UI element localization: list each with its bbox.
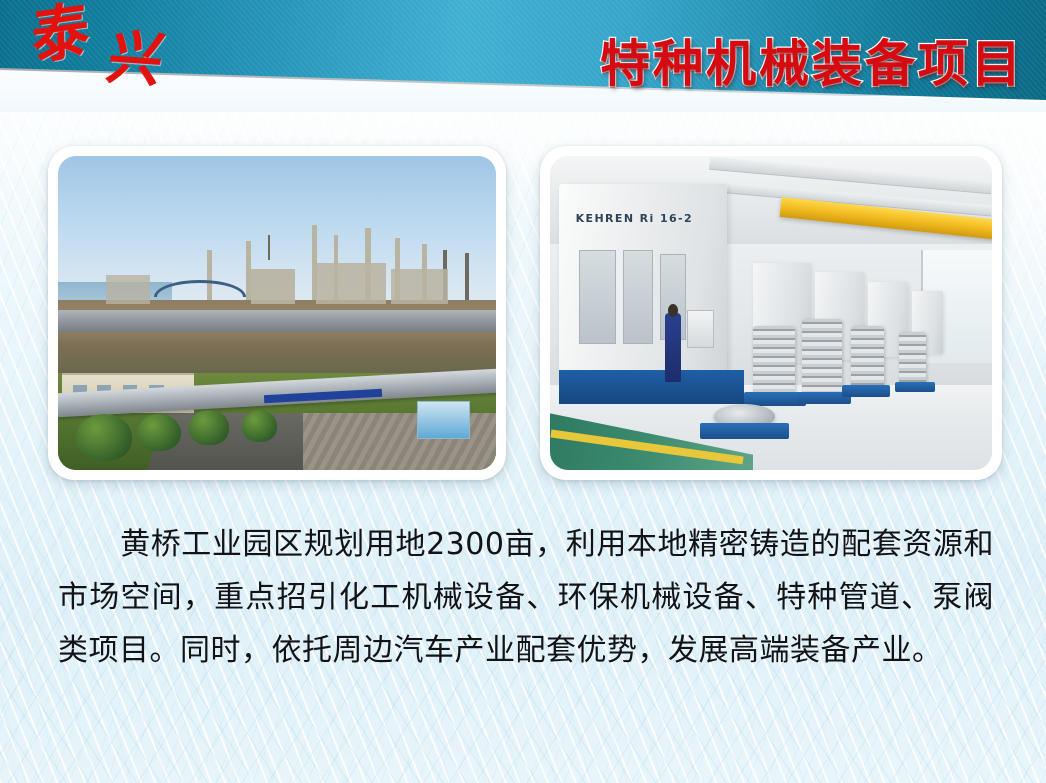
plant-scene xyxy=(58,156,496,470)
workshop-scene: KEHREN Ri 16-2 xyxy=(550,156,992,470)
photo-inner-right: KEHREN Ri 16-2 xyxy=(550,156,992,470)
worker-head xyxy=(668,304,679,317)
flagpole xyxy=(268,235,270,260)
control-panel xyxy=(687,310,714,348)
pallet xyxy=(700,423,788,439)
pallet xyxy=(895,382,935,392)
bearing-ring-stack xyxy=(753,326,795,395)
chemical-plant-photo xyxy=(48,146,506,480)
plant-block xyxy=(391,269,448,304)
crane-mast xyxy=(465,253,469,300)
tree xyxy=(242,410,277,441)
body-paragraph: 黄桥工业园区规划用地2300亩，利用本地精密铸造的配套资源和市场空间，重点招引化… xyxy=(58,518,994,677)
machine-shop-photo: KEHREN Ri 16-2 xyxy=(540,146,1002,480)
machine-door xyxy=(579,250,616,343)
bearing-ring-stack xyxy=(851,326,884,389)
body-paragraph-text: 黄桥工业园区规划用地2300亩，利用本地精密铸造的配套资源和市场空间，重点招引化… xyxy=(58,527,994,668)
bearing-ring-stack xyxy=(802,319,842,394)
bearing-ring-stack xyxy=(899,332,926,385)
tree xyxy=(76,414,133,461)
pallet xyxy=(842,385,891,396)
machine-door xyxy=(623,250,653,343)
worker xyxy=(665,313,681,382)
kehren-grinder: KEHREN Ri 16-2 xyxy=(559,184,727,379)
presentation-slide: 泰 兴 特种机械装备项目 xyxy=(0,0,1046,783)
photo-inner-left xyxy=(58,156,496,470)
tree xyxy=(189,410,228,445)
machine-base xyxy=(559,370,745,405)
plant-block xyxy=(106,275,150,303)
plant-block xyxy=(251,269,295,304)
page-title: 特种机械装备项目 xyxy=(600,36,1024,92)
tree xyxy=(137,414,181,452)
plant-block xyxy=(316,263,386,304)
slide-header: 泰 兴 特种机械装备项目 xyxy=(0,0,1046,112)
pipe-rack xyxy=(58,310,496,332)
machine-label: KEHREN Ri 16-2 xyxy=(576,212,693,225)
hvac-unit xyxy=(417,401,470,439)
